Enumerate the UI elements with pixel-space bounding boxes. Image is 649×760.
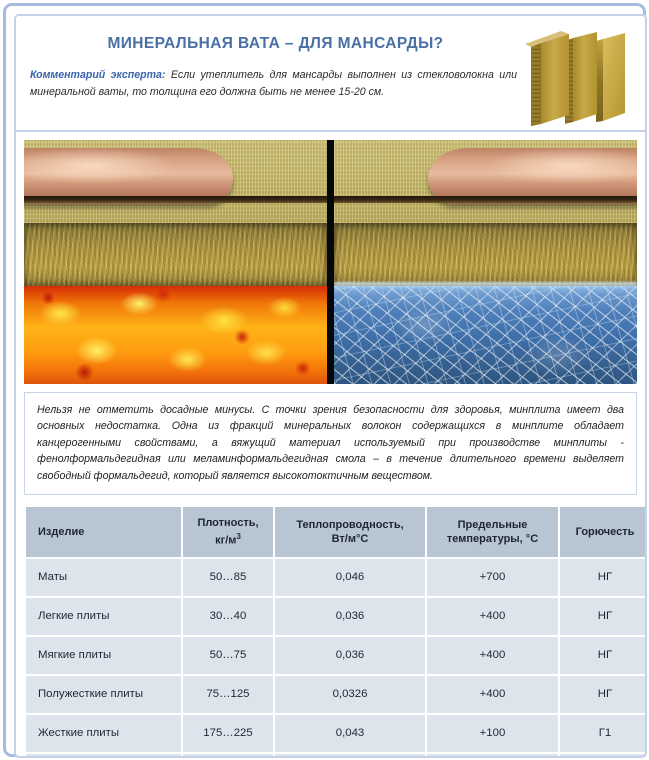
inner-frame: МИНЕРАЛЬНАЯ ВАТА – ДЛЯ МАНСАРДЫ? Коммент… [14,14,647,758]
cell-combustibility: НГ [560,637,647,674]
page-root: МИНЕРАЛЬНАЯ ВАТА – ДЛЯ МАНСАРДЫ? Коммент… [0,0,649,760]
header-temperature-line2: температуры, °С [447,533,538,545]
cell-temperature: +400 [427,676,558,713]
cell-conductivity: 0,036 [275,598,425,635]
table-row: Цилиндры2000,046+400НГ [26,754,647,758]
cell-product: Полужесткие плиты [26,676,181,713]
header-conductivity: Теплопроводность, Вт/м°С [275,507,425,557]
frost-glow [334,282,637,294]
cell-combustibility: НГ [560,676,647,713]
cell-conductivity: 0,046 [275,559,425,596]
cell-temperature: +700 [427,559,558,596]
cell-product: Жесткие плиты [26,715,181,752]
photo-panel-ice [334,140,637,384]
wool-core-right [334,223,637,286]
photo-divider [327,140,334,384]
header-product: Изделие [26,507,181,557]
table-row: Легкие плиты30…400,036+400НГ [26,598,647,635]
cell-product: Цилиндры [26,754,181,758]
cell-product: Маты [26,559,181,596]
photo-panel-fire [24,140,327,384]
spec-table: Изделие Плотность, кг/м3 Теплопроводност… [24,505,647,758]
table-body: Маты50…850,046+700НГЛегкие плиты30…400,0… [26,559,647,758]
wool-core-left [24,223,327,286]
wool-shadow-strip-right [334,196,637,203]
spec-table-wrapper: Изделие Плотность, кг/м3 Теплопроводност… [24,505,637,758]
cell-conductivity: 0,043 [275,715,425,752]
cell-product: Мягкие плиты [26,637,181,674]
header-section: МИНЕРАЛЬНАЯ ВАТА – ДЛЯ МАНСАРДЫ? Коммент… [16,16,645,132]
cell-product: Легкие плиты [26,598,181,635]
header-density: Плотность, кг/м3 [183,507,273,557]
header-density-line2: кг/м [215,535,236,547]
cell-temperature: +400 [427,637,558,674]
header-combustibility: Горючесть [560,507,647,557]
cell-combustibility: НГ [560,754,647,758]
table-header-row: Изделие Плотность, кг/м3 Теплопроводност… [26,507,647,557]
table-row: Маты50…850,046+700НГ [26,559,647,596]
mineral-wool-slabs-icon [521,25,639,129]
table-head: Изделие Плотность, кг/м3 Теплопроводност… [26,507,647,557]
cell-temperature: +100 [427,715,558,752]
frost-layer [334,286,637,384]
comparison-photo [24,140,637,384]
table-row: Мягкие плиты50…750,036+400НГ [26,637,647,674]
fire-layer [24,286,327,384]
header-temperature: Предельные температуры, °С [427,507,558,557]
header-temperature-line1: Предельные [458,519,528,531]
cell-temperature: +400 [427,754,558,758]
header-conductivity-line2: Вт/м°С [332,533,369,545]
cell-density: 50…85 [183,559,273,596]
cell-temperature: +400 [427,598,558,635]
table-row: Полужесткие плиты75…1250,0326+400НГ [26,676,647,713]
cell-combustibility: НГ [560,598,647,635]
cell-density: 30…40 [183,598,273,635]
outer-frame: МИНЕРАЛЬНАЯ ВАТА – ДЛЯ МАНСАРДЫ? Коммент… [3,3,646,757]
cell-conductivity: 0,036 [275,637,425,674]
cell-density: 50…75 [183,637,273,674]
expert-comment-label: Комментарий эксперта: [30,69,165,81]
warning-paragraph-block: Нельзя не отметить досадные минусы. С то… [24,392,637,495]
wool-shadow-strip-left [24,196,327,203]
header-density-sup: 3 [236,532,240,541]
cell-combustibility: Г1 [560,715,647,752]
header-conductivity-line1: Теплопроводность, [296,519,403,531]
cell-conductivity: 0,046 [275,754,425,758]
header-density-line1: Плотность, [197,517,258,529]
cell-combustibility: НГ [560,559,647,596]
cell-conductivity: 0,0326 [275,676,425,713]
warning-paragraph-text: Нельзя не отметить досадные минусы. С то… [37,402,624,484]
table-row: Жесткие плиты175…2250,043+100Г1 [26,715,647,752]
cell-density: 175…225 [183,715,273,752]
cell-density: 75…125 [183,676,273,713]
cell-density: 200 [183,754,273,758]
expert-comment: Комментарий эксперта: Если утеплитель дл… [30,67,517,101]
